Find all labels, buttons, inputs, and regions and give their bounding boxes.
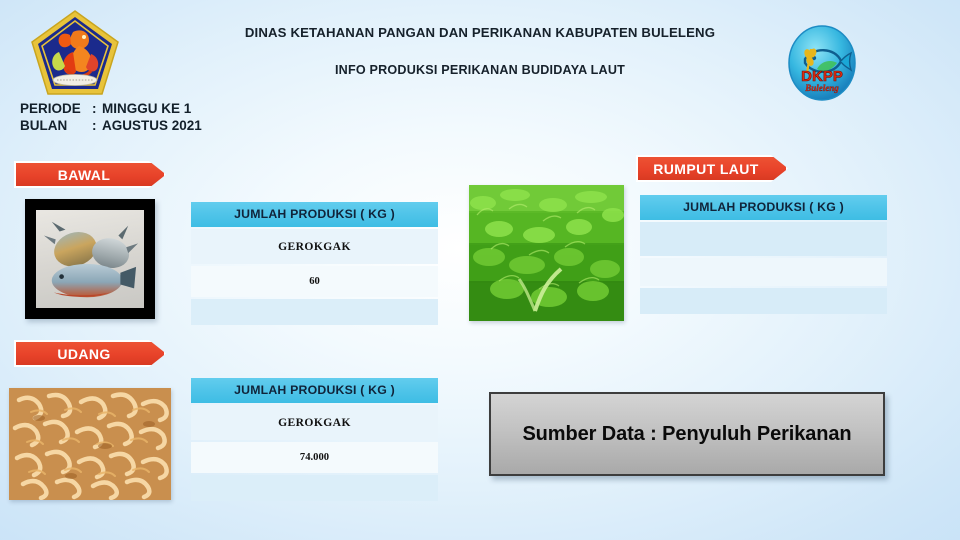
section-banner-udang: UDANG — [14, 340, 166, 367]
section-banner-udang-label: UDANG — [57, 346, 110, 362]
periode-label: PERIODE — [20, 100, 92, 117]
table-header-udang: JUMLAH PRODUKSI ( KG ) — [191, 378, 438, 403]
bawal-photo-frame — [25, 199, 155, 319]
section-banner-bawal-label: BAWAL — [58, 167, 111, 183]
production-table-udang: JUMLAH PRODUKSI ( KG ) GEROKGAK 74.000 — [191, 378, 438, 501]
buleleng-coat-of-arms-icon — [29, 8, 121, 98]
production-table-rumput-laut: JUMLAH PRODUKSI ( KG ) — [640, 195, 887, 314]
bulan-separator: : — [92, 117, 102, 134]
bulan-label: BULAN — [20, 117, 92, 134]
table-row — [191, 299, 438, 325]
svg-text:Buleleng: Buleleng — [804, 83, 839, 93]
source-data-text: Sumber Data : Penyuluh Perikanan — [522, 423, 851, 446]
periode-value: MINGGU KE 1 — [102, 100, 191, 117]
section-banner-rumput-laut-label: RUMPUT LAUT — [653, 161, 759, 177]
table-row — [640, 288, 887, 314]
table-row — [640, 258, 887, 286]
table-row: 74.000 — [191, 442, 438, 473]
bulan-value: AGUSTUS 2021 — [102, 117, 202, 134]
slide-canvas: DINAS KETAHANAN PANGAN DAN PERIKANAN KAB… — [0, 0, 960, 540]
source-data-box: Sumber Data : Penyuluh Perikanan — [489, 392, 885, 476]
report-title: INFO PRODUKSI PERIKANAN BUDIDAYA LAUT — [200, 63, 760, 77]
dkpp-buleleng-logo-icon: DKPP Buleleng — [783, 23, 861, 103]
period-row-bulan: BULAN : AGUSTUS 2021 — [20, 117, 202, 134]
pomfret-fish-photo — [36, 210, 144, 308]
table-row: GEROKGAK — [191, 229, 438, 264]
table-row — [191, 475, 438, 501]
shrimp-photo — [9, 388, 171, 500]
table-header-bawal: JUMLAH PRODUKSI ( KG ) — [191, 202, 438, 227]
organization-title: DINAS KETAHANAN PANGAN DAN PERIKANAN KAB… — [200, 25, 760, 40]
table-row — [640, 222, 887, 256]
periode-separator: : — [92, 100, 102, 117]
production-table-bawal: JUMLAH PRODUKSI ( KG ) GEROKGAK 60 — [191, 202, 438, 325]
section-banner-rumput-laut: RUMPUT LAUT — [636, 155, 788, 182]
table-row: GEROKGAK — [191, 405, 438, 440]
period-block: PERIODE : MINGGU KE 1 BULAN : AGUSTUS 20… — [20, 100, 202, 134]
period-row-periode: PERIODE : MINGGU KE 1 — [20, 100, 202, 117]
seaweed-photo — [469, 185, 624, 321]
table-row: 60 — [191, 266, 438, 297]
table-header-rumput-laut: JUMLAH PRODUKSI ( KG ) — [640, 195, 887, 220]
section-banner-bawal: BAWAL — [14, 161, 166, 188]
